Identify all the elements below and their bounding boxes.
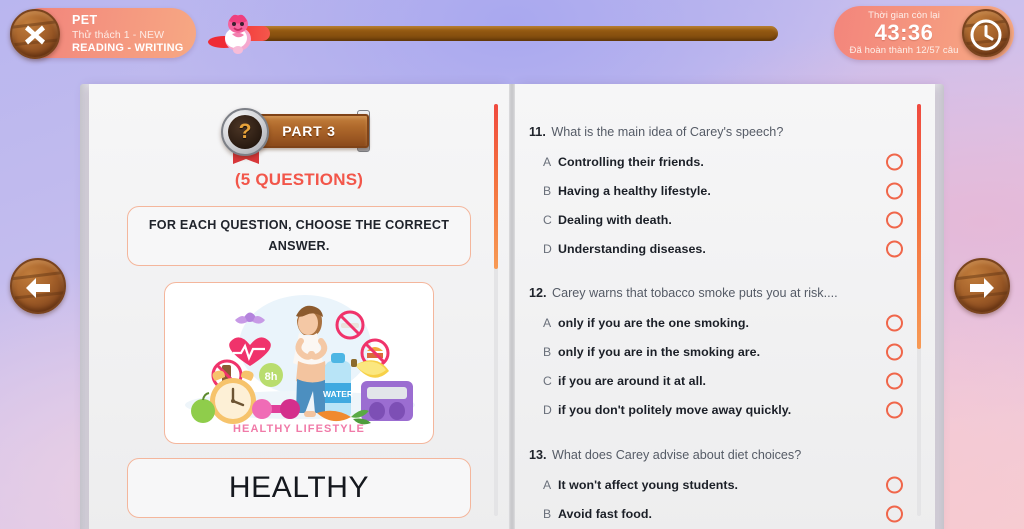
option-row[interactable]: C Dealing with death. [529,205,935,234]
option-text: if you don't politely move away quickly. [558,403,791,417]
option-radio[interactable] [886,373,903,390]
question-block: 11. What is the main idea of Carey's spe… [529,124,935,263]
question-text: Carey warns that tobacco smoke puts you … [552,286,838,300]
prev-page-button[interactable] [10,258,66,314]
option-radio[interactable] [886,211,903,228]
option-letter: D [543,242,558,256]
option-row[interactable]: B Avoid fast food. [529,499,935,528]
question-block: 12. Carey warns that tobacco smoke puts … [529,285,935,424]
option-row[interactable]: C if you are around it at all. [529,367,935,396]
option-radio[interactable] [886,476,903,493]
left-page-content: PART 3 ? (5 QUESTIONS) FOR EACH QUESTION… [89,84,509,518]
option-row[interactable]: A only if you are the one smoking. [529,309,935,338]
option-letter: D [543,403,558,417]
challenge-label: Thử thách 1 - NEW [72,29,184,41]
timer-text-group: Thời gian còn lại 43:36 Đã hoàn thành 12… [842,10,966,56]
progress-bar [208,26,778,41]
passage-title: HEALTHY [229,471,369,505]
exit-button[interactable] [10,9,60,59]
svg-text:WATER: WATER [323,389,353,399]
option-row[interactable]: D Understanding diseases. [529,234,935,263]
option-text: Controlling their friends. [558,155,704,169]
option-radio[interactable] [886,240,903,257]
clock-icon [969,18,1003,52]
exam-screen: PET Thử thách 1 - NEW READING - WRITING [0,0,1024,529]
option-radio[interactable] [886,153,903,170]
exam-info-text: PET Thử thách 1 - NEW READING - WRITING [72,13,184,55]
arrow-left-icon [23,273,53,303]
option-row[interactable]: A It won't affect young students. [529,470,935,499]
right-page-scrollbar-thumb[interactable] [917,104,921,349]
illustration-card: 8h [164,282,434,444]
question-text: What does Carey advise about diet choice… [552,448,801,462]
arrow-right-icon [967,273,997,303]
skill-label: READING - WRITING [72,42,184,55]
close-x-icon [21,21,49,49]
question-prompt: 13. What does Carey advise about diet ch… [529,447,935,463]
option-text: only if you are in the smoking are. [558,345,760,359]
option-letter: C [543,213,558,227]
option-letter: A [543,478,558,492]
option-row[interactable]: B Having a healthy lifestyle. [529,176,935,205]
right-page-content: 11. What is the main idea of Carey's spe… [515,84,935,529]
question-mark-badge-icon: ? [221,108,269,156]
option-radio[interactable] [886,505,903,522]
timer-value: 43:36 [842,21,966,44]
question-number: 12. [529,286,547,300]
left-page-scrollbar[interactable] [494,104,498,516]
progress-track [238,26,778,41]
option-text: Avoid fast food. [558,507,652,521]
question-number: 13. [529,448,547,462]
book: PART 3 ? (5 QUESTIONS) FOR EACH QUESTION… [80,84,944,529]
right-page-scrollbar[interactable] [917,104,921,516]
option-text: only if you are the one smoking. [558,316,749,330]
option-radio[interactable] [886,402,903,419]
question-text: What is the main idea of Carey's speech? [551,125,783,139]
passage-title-box: HEALTHY [127,458,471,518]
top-bar: PET Thử thách 1 - NEW READING - WRITING [0,0,1024,68]
option-letter: B [543,345,558,359]
option-text: It won't affect young students. [558,478,738,492]
option-letter: B [543,507,558,521]
exam-code: PET [72,13,184,28]
option-text: if you are around it at all. [558,374,706,388]
option-letter: C [543,374,558,388]
option-letter: B [543,184,558,198]
book-page-right: 11. What is the main idea of Carey's spe… [515,84,935,529]
option-text: Understanding diseases. [558,242,706,256]
book-page-left: PART 3 ? (5 QUESTIONS) FOR EACH QUESTION… [89,84,509,529]
option-row[interactable]: B only if you are in the smoking are. [529,338,935,367]
instruction-text: FOR EACH QUESTION, CHOOSE THE CORRECT AN… [146,215,452,257]
option-row[interactable]: A Controlling their friends. [529,147,935,176]
question-block: 13. What does Carey advise about diet ch… [529,447,935,528]
svg-text:8h: 8h [265,371,278,383]
option-text: Dealing with death. [558,213,672,227]
option-radio[interactable] [886,344,903,361]
option-radio[interactable] [886,315,903,332]
option-text: Having a healthy lifestyle. [558,184,711,198]
healthy-lifestyle-illustration: 8h [165,283,434,433]
question-prompt: 11. What is the main idea of Carey's spe… [529,124,935,140]
completed-count: Đã hoàn thành 12/57 câu [842,45,966,56]
question-prompt: 12. Carey warns that tobacco smoke puts … [529,285,935,301]
question-mark-glyph: ? [228,115,262,149]
illustration-caption: HEALTHY LIFESTYLE [165,423,433,435]
questions-count: (5 QUESTIONS) [89,170,509,190]
next-page-button[interactable] [954,258,1010,314]
timer-panel: Thời gian còn lại 43:36 Đã hoàn thành 12… [834,6,1014,60]
option-radio[interactable] [886,182,903,199]
clock-button[interactable] [962,9,1010,57]
rocket-mascot-icon [208,12,264,56]
option-letter: A [543,155,558,169]
book-spine [509,84,515,529]
left-page-scrollbar-thumb[interactable] [494,104,498,269]
option-letter: A [543,316,558,330]
option-row[interactable]: D if you don't politely move away quickl… [529,396,935,425]
question-number: 11. [529,125,546,139]
part-banner: PART 3 ? [221,108,377,156]
instruction-box: FOR EACH QUESTION, CHOOSE THE CORRECT AN… [127,206,471,266]
